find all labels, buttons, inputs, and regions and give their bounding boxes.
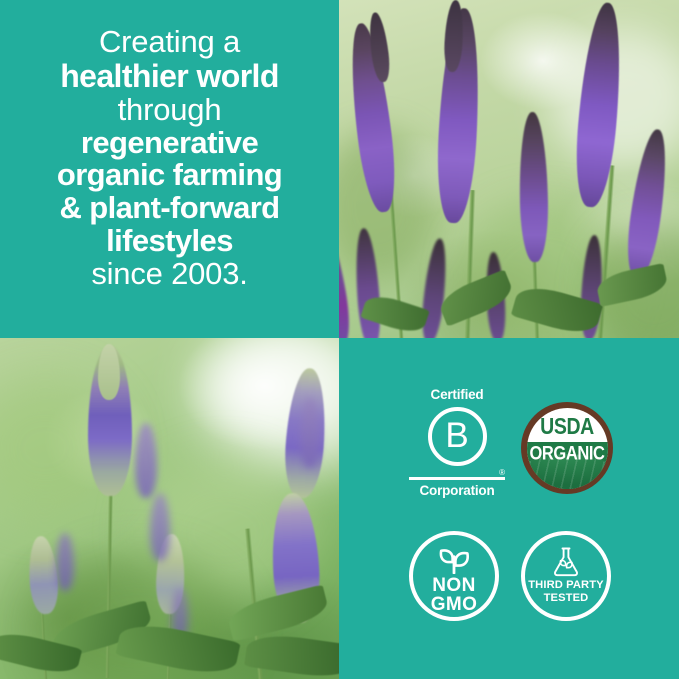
b-corp-badge: Certified B ® Corporation <box>409 388 505 498</box>
tpt-line-2: TESTED <box>525 592 607 605</box>
third-party-tested-badge: THIRD PARTY TESTED <box>521 531 611 621</box>
b-corp-letter: B <box>445 418 468 453</box>
headline-line-4: regenerative <box>12 127 327 160</box>
headline-line-5: organic farming <box>12 159 327 192</box>
usda-top-word: USDA <box>527 414 608 441</box>
b-corp-certified-label: Certified <box>409 388 505 403</box>
lavender-photo-bottom-left: Soft-focus field of purple salvia and la… <box>0 338 339 679</box>
headline-block: Creating a healthier world through regen… <box>0 26 339 291</box>
headline-line-6: & plant-forward <box>12 192 327 225</box>
non-gmo-badge: NON GMO <box>409 531 499 621</box>
headline-line-2: healthier world <box>12 60 327 94</box>
salvia-photo-top-right: Close-up of purple salvia flower spikes … <box>339 0 679 338</box>
background-flower <box>56 533 74 591</box>
spike-tip <box>98 344 120 400</box>
usda-inner-disc: USDA ORGANIC <box>527 408 608 489</box>
headline-line-8: since 2003. <box>12 258 327 291</box>
b-corp-divider <box>409 477 505 480</box>
usda-organic-badge: USDA ORGANIC <box>521 402 613 494</box>
badge-grid: Certified B ® Corporation USDA ORGANIC <box>339 338 679 679</box>
b-corp-rule-group: ® <box>409 472 505 480</box>
brand-poster: Creating a healthier world through regen… <box>0 0 679 679</box>
usda-bottom-word: ORGANIC <box>527 443 608 465</box>
non-gmo-line-1: NON <box>413 576 495 595</box>
certifications-panel: Certified B ® Corporation USDA ORGANIC <box>339 338 679 679</box>
flask-icon <box>550 547 582 582</box>
background-flower <box>150 493 170 561</box>
third-party-tested-label: THIRD PARTY TESTED <box>525 579 607 604</box>
headline-panel: Creating a healthier world through regen… <box>0 0 339 338</box>
b-corp-circle-icon: B <box>428 407 487 466</box>
headline-line-3: through <box>12 94 327 127</box>
headline-line-7: lifestyles <box>12 225 327 258</box>
tpt-line-1: THIRD PARTY <box>525 579 607 592</box>
non-gmo-label: NON GMO <box>413 576 495 615</box>
headline-line-1: Creating a <box>12 26 327 59</box>
non-gmo-line-2: GMO <box>413 595 495 614</box>
registered-trademark-icon: ® <box>499 469 505 477</box>
b-corp-corporation-label: Corporation <box>409 483 505 498</box>
